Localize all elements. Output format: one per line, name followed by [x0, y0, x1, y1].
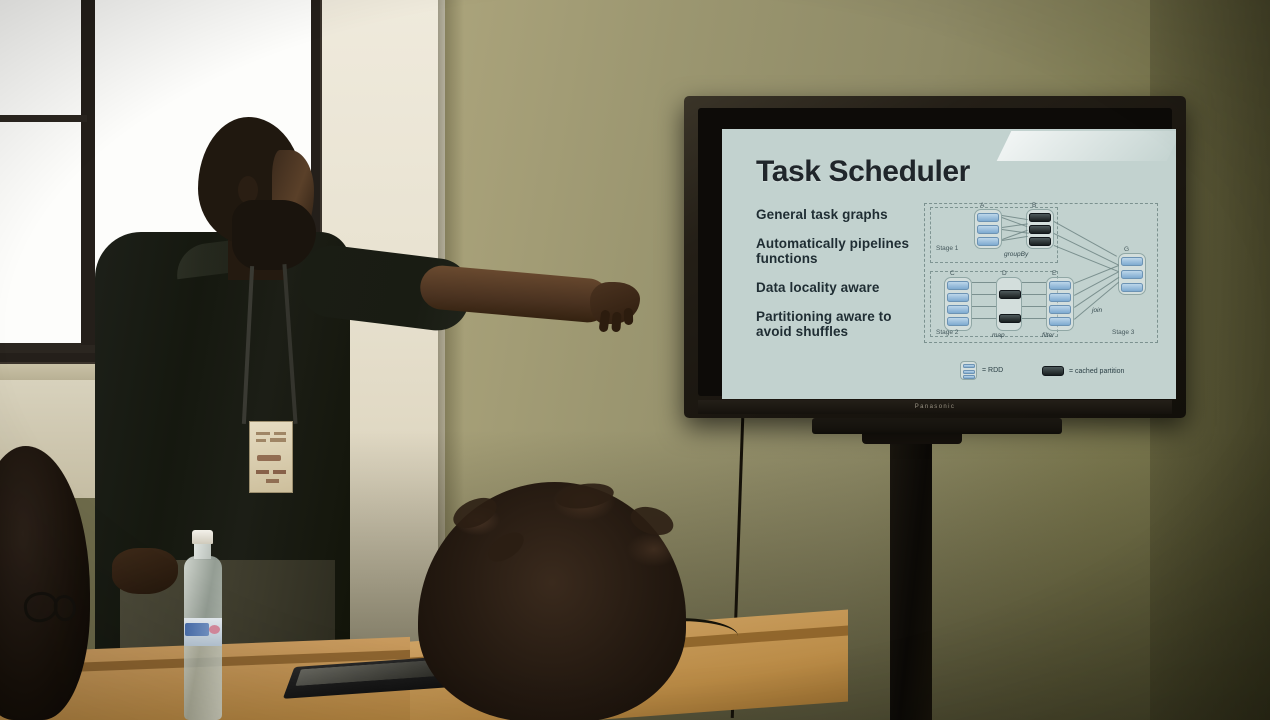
- slide-bullet: Data locality aware: [756, 280, 928, 296]
- dag-edge: [972, 318, 996, 319]
- rdd-label-d: D: [1002, 270, 1007, 277]
- presenter-left-hand: [112, 548, 178, 594]
- op-label-filter: filter: [1042, 332, 1054, 339]
- rdd-swatch-icon: [960, 361, 977, 380]
- water-bottle: [180, 530, 224, 720]
- rdd-partition: [1121, 270, 1143, 279]
- rdd-partition: [1049, 281, 1071, 290]
- presenter-finger: [611, 312, 621, 333]
- tv-bezel: Task Scheduler General task graphs Autom…: [698, 108, 1172, 396]
- bottle-label-graphic: [209, 625, 220, 634]
- rdd-partition: [947, 281, 969, 290]
- badge-text-line: [274, 432, 286, 435]
- rdd-partition: [1049, 305, 1071, 314]
- badge-text-line: [256, 432, 270, 435]
- rdd-partition: [1121, 283, 1143, 292]
- rdd-c-group: [944, 277, 972, 331]
- presentation-photo: Task Scheduler General task graphs Autom…: [0, 0, 1270, 720]
- badge-text-line: [266, 479, 279, 483]
- op-label-groupby: groupBy: [1004, 251, 1028, 258]
- dag-edge: [1022, 318, 1046, 319]
- foliage: [0, 113, 83, 343]
- badge-logo: [257, 455, 281, 461]
- badge-text-line: [256, 470, 269, 474]
- badge-text-line: [270, 438, 286, 442]
- slide-bullet: Automatically pipelines functions: [756, 236, 928, 267]
- window-mullion: [81, 0, 95, 345]
- slide-title: Task Scheduler: [756, 155, 970, 189]
- presenter-finger: [624, 308, 634, 325]
- rdd-a-group: [974, 209, 1002, 249]
- eyeglasses: [24, 592, 84, 626]
- dag-edge: [1022, 282, 1046, 283]
- cached-partition: [1029, 225, 1051, 234]
- rdd-label-c: C: [950, 270, 955, 277]
- cached-partition: [1029, 213, 1051, 222]
- rdd-d-group: [996, 277, 1022, 331]
- legend-item-rdd: = RDD: [960, 361, 1003, 380]
- tv-base-plate: [812, 418, 1062, 434]
- dag-edge: [1022, 294, 1046, 295]
- dag-edge: [972, 294, 996, 295]
- conference-badge: [249, 421, 293, 493]
- badge-text-line: [273, 470, 286, 474]
- bottle-neck: [194, 543, 211, 559]
- slide-bullet: General task graphs: [756, 207, 928, 223]
- window-pane-left: [0, 0, 83, 343]
- legend-label-rdd: = RDD: [982, 367, 1003, 374]
- rdd-partition: [1049, 293, 1071, 302]
- rdd-partition: [947, 317, 969, 326]
- legend-label-cached: = cached partition: [1069, 368, 1124, 375]
- rdd-partition: [947, 293, 969, 302]
- tv-brand-label: Panasonic: [698, 400, 1172, 414]
- dag-edge: [972, 306, 996, 307]
- cached-partition-swatch-icon: [1042, 366, 1064, 376]
- cached-partition: [999, 290, 1021, 299]
- rdd-partition: [1049, 317, 1071, 326]
- legend-item-cached: = cached partition: [1042, 366, 1124, 376]
- bottle-cap: [192, 530, 213, 544]
- rdd-b-group: [1026, 209, 1054, 249]
- stage-2-label: Stage 2: [936, 329, 958, 336]
- badge-text-line: [256, 439, 266, 442]
- op-label-map: map: [992, 332, 1005, 339]
- cached-partition: [1029, 237, 1051, 246]
- rdd-partition: [1121, 257, 1143, 266]
- rdd-label-a: A: [980, 202, 984, 209]
- stage-3-label: Stage 3: [1112, 329, 1134, 336]
- presenter-beard: [232, 200, 316, 270]
- rdd-partition: [977, 237, 999, 246]
- tv-screen: Task Scheduler General task graphs Autom…: [722, 129, 1176, 399]
- rdd-partition: [977, 225, 999, 234]
- eyeglass-lens: [52, 593, 78, 622]
- slide-bullet: Partitioning aware to avoid shuffles: [756, 309, 928, 340]
- rdd-label-b: B: [1032, 202, 1036, 209]
- window-transom: [0, 115, 87, 122]
- presentation-slide: Task Scheduler General task graphs Autom…: [722, 129, 1176, 399]
- rdd-label-e: E: [1052, 270, 1056, 277]
- stage-1-label: Stage 1: [936, 245, 958, 252]
- dag-edge: [972, 282, 996, 283]
- rdd-label-g: G: [1124, 246, 1129, 253]
- dag-edge: [1022, 306, 1046, 307]
- rdd-dag-diagram: A B: [922, 201, 1162, 351]
- bottle-label-graphic: [185, 623, 209, 636]
- slide-bullet-list: General task graphs Automatically pipeli…: [756, 207, 928, 353]
- tv-stand-pole: [890, 432, 932, 720]
- television[interactable]: Task Scheduler General task graphs Autom…: [684, 96, 1186, 418]
- rdd-g-group: [1118, 253, 1146, 295]
- rdd-partition: [947, 305, 969, 314]
- op-label-join: join: [1092, 307, 1102, 314]
- rdd-partition: [977, 213, 999, 222]
- diagram-legend: = RDD = cached partition: [960, 361, 1170, 383]
- cached-partition: [999, 314, 1021, 323]
- tv-brand-strip: Panasonic: [698, 400, 1172, 414]
- rdd-e-group: [1046, 277, 1074, 331]
